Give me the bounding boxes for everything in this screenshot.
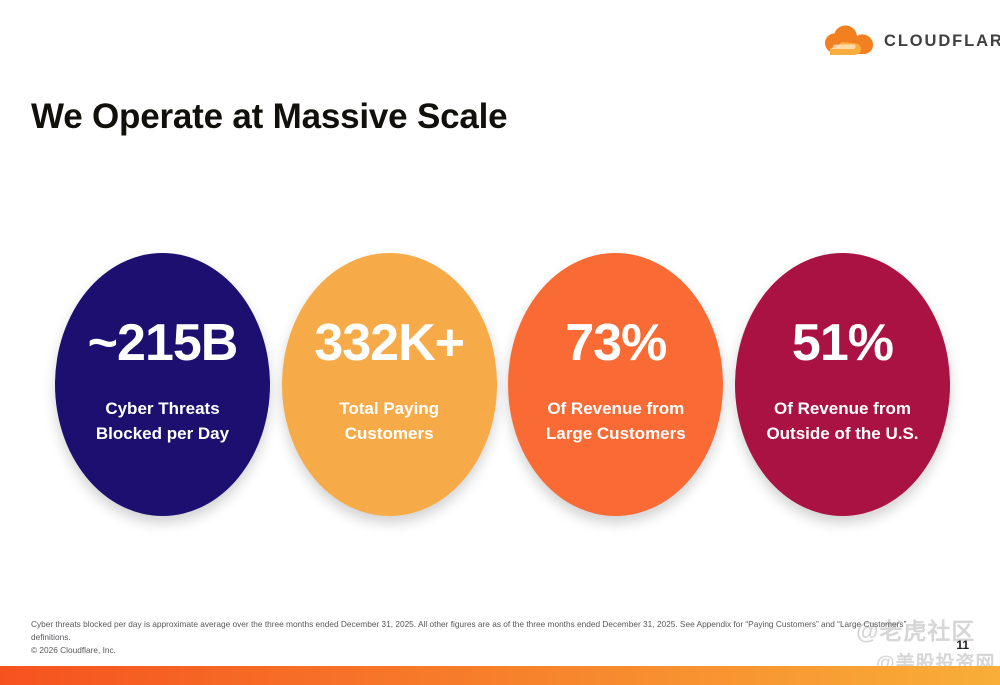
footnote-text: Cyber threats blocked per day is approxi…: [31, 618, 911, 644]
stat-label: Total Paying Customers: [329, 397, 449, 446]
stat-value: 51%: [792, 317, 893, 369]
stat-label: Of Revenue from Large Customers: [536, 397, 696, 446]
cloudflare-logo: CLOUDFLARE: [824, 24, 1000, 58]
copyright-text: © 2026 Cloudflare, Inc.: [31, 645, 116, 657]
stat-value: 332K+: [314, 317, 464, 369]
stat-value: 73%: [565, 317, 666, 369]
slide-canvas: CLOUDFLARE We Operate at Massive Scale ~…: [0, 0, 1000, 685]
stat-card-cyber-threats: ~215B Cyber Threats Blocked per Day: [55, 253, 270, 516]
cloudflare-cloud-icon: [824, 24, 876, 58]
stat-value: ~215B: [88, 317, 238, 369]
logo-wordmark: CLOUDFLARE: [884, 33, 1000, 50]
stat-card-large-customer-revenue: 73% Of Revenue from Large Customers: [508, 253, 723, 516]
page-number: 11: [956, 638, 969, 652]
stat-card-international-revenue: 51% Of Revenue from Outside of the U.S.: [735, 253, 950, 516]
stat-card-paying-customers: 332K+ Total Paying Customers: [282, 253, 497, 516]
bottom-accent-bar: [0, 666, 1000, 685]
stat-label: Cyber Threats Blocked per Day: [86, 397, 239, 446]
stats-row: ~215B Cyber Threats Blocked per Day 332K…: [55, 253, 950, 519]
page-title: We Operate at Massive Scale: [31, 98, 507, 137]
stat-label: Of Revenue from Outside of the U.S.: [756, 397, 928, 446]
